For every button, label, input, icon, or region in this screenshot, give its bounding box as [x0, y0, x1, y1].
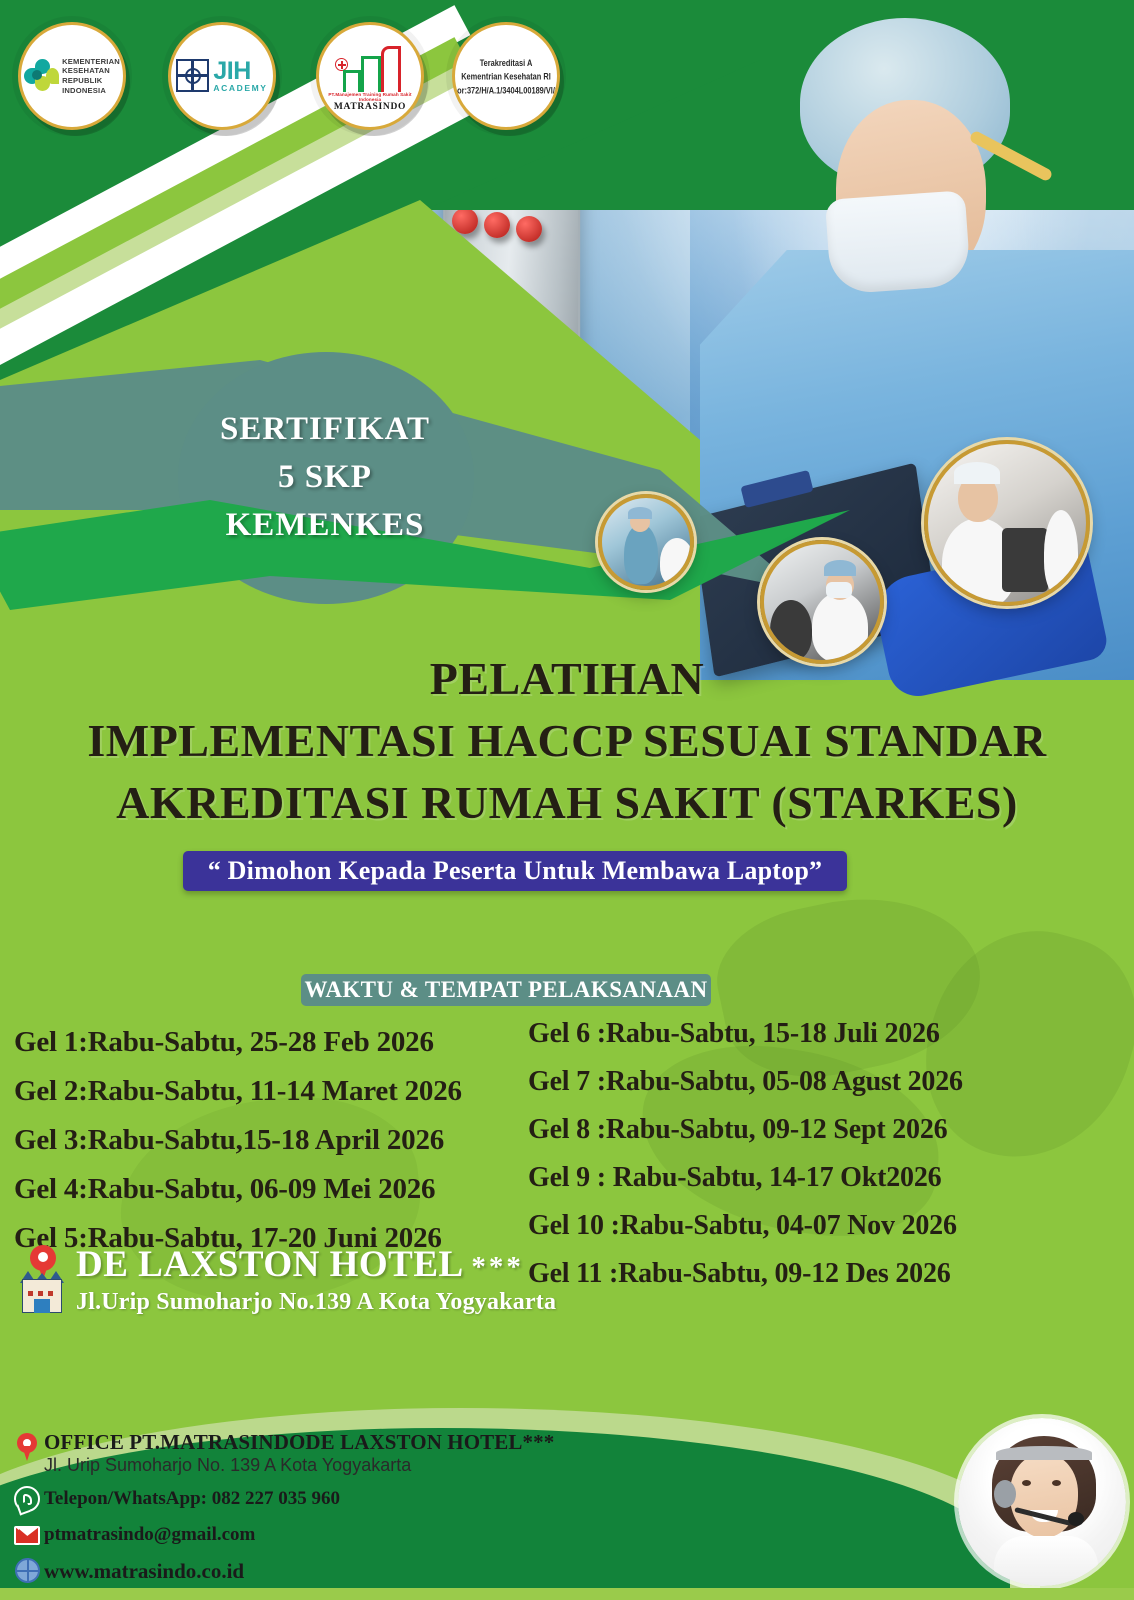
- kemenkes-line-3: REPUBLIK: [62, 76, 120, 86]
- location-pin-icon: [30, 1245, 56, 1271]
- footer-phone[interactable]: Telepon/WhatsApp: 082 227 035 960: [44, 1486, 340, 1512]
- schedule-item: Gel 2:Rabu-Sabtu, 11-14 Maret 2026: [14, 1067, 534, 1116]
- hotel-building-icon: [16, 1269, 68, 1315]
- kemenkes-line-1: KEMENTERIAN: [62, 57, 120, 67]
- schedule-banner-text: WAKTU & TEMPAT PELAKSANAAN: [305, 977, 708, 1003]
- venue-name: DE LAXSTON HOTEL ***: [76, 1245, 556, 1287]
- jih-academy-logo: JIH ACADEMY: [168, 22, 276, 130]
- schedule-column-left: Gel 1:Rabu-Sabtu, 25-28 Feb 2026 Gel 2:R…: [14, 1018, 534, 1263]
- matrasindo-logo: PT.Manajemen Training Rumah Sakit Indone…: [316, 22, 424, 130]
- title-line-2: IMPLEMENTASI HACCP SESUAI STANDAR: [0, 710, 1134, 772]
- matrasindo-subtitle: PT.Manajemen Training Rumah Sakit Indone…: [319, 92, 421, 102]
- laptop-notice-text: “ Dimohon Kepada Peserta Untuk Membawa L…: [208, 856, 822, 886]
- jih-subtitle: ACADEMY: [213, 84, 267, 93]
- red-knob: [516, 216, 542, 242]
- schedule-item: Gel 4:Rabu-Sabtu, 06-09 Mei 2026: [14, 1165, 534, 1214]
- schedule-banner: WAKTU & TEMPAT PELAKSANAAN: [301, 974, 711, 1006]
- badge-line-3: KEMENKES: [170, 501, 480, 549]
- poster: KEMENTERIAN KESEHATAN REPUBLIK INDONESIA…: [0, 0, 1134, 1600]
- title-line-1: PELATIHAN: [0, 648, 1134, 710]
- schedule-item: Gel 9 : Rabu-Sabtu, 14-17 Okt2026: [528, 1154, 1068, 1202]
- footer-office-address: Jl. Urip Sumoharjo No. 139 A Kota Yogyak…: [44, 1454, 554, 1476]
- akreditasi-badge: Terakreditasi A Kementrian Kesehatan RI …: [452, 22, 560, 130]
- kemenkes-line-4: INDONESIA: [62, 86, 120, 96]
- laptop-notice-banner: “ Dimohon Kepada Peserta Untuk Membawa L…: [183, 851, 847, 891]
- globe-icon[interactable]: [15, 1558, 40, 1583]
- schedule-item: Gel 8 :Rabu-Sabtu, 09-12 Sept 2026: [528, 1106, 1068, 1154]
- photo-bubble-icu: [598, 494, 694, 590]
- footer-office-name: OFFICE PT.MATRASINDODE LAXSTON HOTEL***: [44, 1430, 554, 1454]
- venue-block: DE LAXSTON HOTEL *** Jl.Urip Sumoharjo N…: [14, 1245, 556, 1317]
- schedule-item: Gel 3:Rabu-Sabtu,15-18 April 2026: [14, 1116, 534, 1165]
- red-knob: [484, 212, 510, 238]
- akreditasi-line-3: Nomor:372/H/A.1/3404L00189/VI/2024: [452, 83, 560, 97]
- location-pin-icon: [17, 1433, 37, 1453]
- face-mask: [825, 190, 971, 295]
- logo-row: KEMENTERIAN KESEHATAN REPUBLIK INDONESIA…: [0, 22, 1134, 142]
- akreditasi-line-2: Kementrian Kesehatan RI: [452, 69, 560, 83]
- poster-title: PELATIHAN IMPLEMENTASI HACCP SESUAI STAN…: [0, 648, 1134, 834]
- photo-bubble-kitchen: [760, 540, 884, 664]
- whatsapp-icon[interactable]: [14, 1486, 40, 1512]
- venue-address: Jl.Urip Sumoharjo No.139 A Kota Yogyakar…: [76, 1287, 556, 1317]
- red-knob: [452, 208, 478, 234]
- customer-service-photo: [958, 1418, 1126, 1586]
- badge-line-1: SERTIFIKAT: [170, 405, 480, 453]
- kemenkes-line-2: KESEHATAN: [62, 66, 120, 76]
- footer-email[interactable]: ptmatrasindo@gmail.com: [44, 1522, 255, 1548]
- kemenkes-mark-icon: [24, 59, 58, 93]
- email-icon[interactable]: [14, 1526, 40, 1545]
- jih-knot-icon: [176, 59, 210, 93]
- photo-bubble-auditor: [924, 440, 1090, 606]
- akreditasi-line-1: Terakreditasi A: [452, 55, 560, 69]
- schedule-column-right: Gel 6 :Rabu-Sabtu, 15-18 Juli 2026 Gel 7…: [528, 1010, 1068, 1298]
- matrasindo-building-icon: [335, 44, 405, 92]
- footer-website[interactable]: www.matrasindo.co.id: [44, 1557, 244, 1585]
- schedule-item: Gel 10 :Rabu-Sabtu, 04-07 Nov 2026: [528, 1202, 1068, 1250]
- badge-line-2: 5 SKP: [170, 453, 480, 501]
- jih-title: JIH: [213, 59, 267, 84]
- matrasindo-title: MATRASINDO: [319, 102, 421, 112]
- schedule-item: Gel 1:Rabu-Sabtu, 25-28 Feb 2026: [14, 1018, 534, 1067]
- bottom-strip: [0, 1588, 1134, 1600]
- schedule-item: Gel 7 :Rabu-Sabtu, 05-08 Agust 2026: [528, 1058, 1068, 1106]
- sertifikat-badge-text: SERTIFIKAT 5 SKP KEMENKES: [170, 405, 480, 549]
- schedule-item: Gel 11 :Rabu-Sabtu, 09-12 Des 2026: [528, 1250, 1068, 1298]
- kemenkes-logo-text: KEMENTERIAN KESEHATAN REPUBLIK INDONESIA: [62, 57, 120, 95]
- venue-name-text: DE LAXSTON HOTEL: [76, 1244, 462, 1285]
- title-line-3: AKREDITASI RUMAH SAKIT (STARKES): [0, 772, 1134, 834]
- kemenkes-logo: KEMENTERIAN KESEHATAN REPUBLIK INDONESIA: [18, 22, 126, 130]
- schedule-item: Gel 6 :Rabu-Sabtu, 15-18 Juli 2026: [528, 1010, 1068, 1058]
- venue-stars: ***: [471, 1251, 524, 1283]
- footer-contact-block: OFFICE PT.MATRASINDODE LAXSTON HOTEL*** …: [10, 1430, 810, 1590]
